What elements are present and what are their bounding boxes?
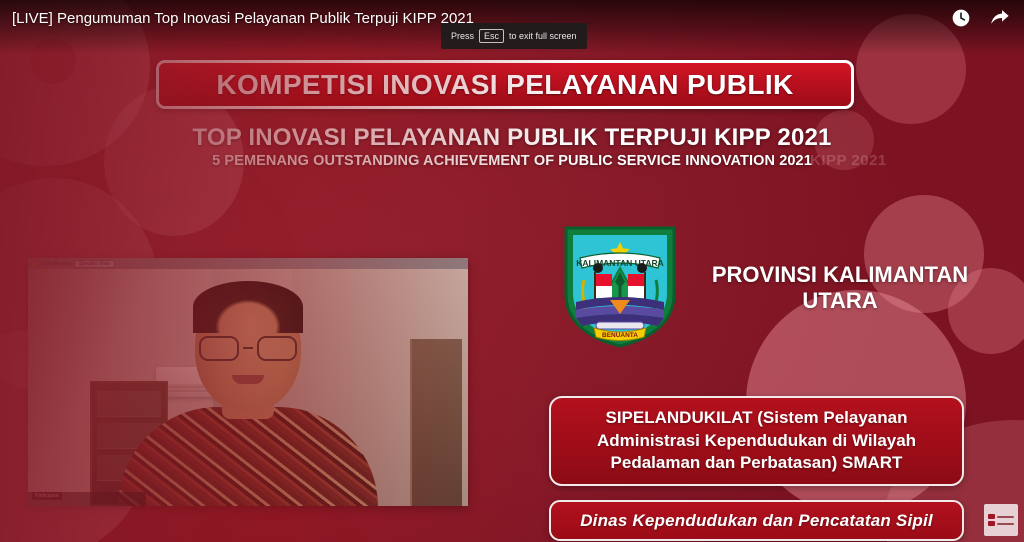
innovation-title-text: SIPELANDUKILAT (Sistem Pelayanan Adminis… <box>565 407 948 475</box>
hair <box>193 281 303 333</box>
share-icon[interactable] <box>989 8 1010 28</box>
participant-video-window: Zoom Meeting Speaker View <box>28 258 468 506</box>
video-player-stage: KOMPETISI INOVASI PELAYANAN PUBLIK TOP I… <box>0 0 1024 542</box>
watermark-line <box>997 523 1014 525</box>
background-blob <box>30 38 76 84</box>
watermark-row <box>988 514 1014 519</box>
competition-title-banner: KOMPETISI INOVASI PELAYANAN PUBLIK <box>156 60 854 109</box>
svg-text:BENUANTA: BENUANTA <box>602 332 638 339</box>
exit-fullscreen-tooltip: Press Esc to exit full screen <box>441 23 587 49</box>
presentation-slide: KOMPETISI INOVASI PELAYANAN PUBLIK TOP I… <box>0 0 1024 542</box>
kalimantan-utara-coat-of-arms-icon: KALIMANTAN UTARA <box>556 222 684 350</box>
tooltip-prefix: Press <box>451 31 474 41</box>
watch-later-icon[interactable] <box>951 8 971 28</box>
watermark-row <box>988 521 1014 526</box>
department-box: Dinas Kependudukan dan Pencatatan Sipil <box>549 500 964 541</box>
province-name: PROVINSI KALIMANTAN UTARA <box>690 262 990 314</box>
head <box>195 283 301 411</box>
glasses-bridge <box>243 347 253 349</box>
tooltip-suffix: to exit full screen <box>509 31 577 41</box>
innovation-title-box: SIPELANDUKILAT (Sistem Pelayanan Adminis… <box>549 396 964 486</box>
app-icon <box>32 262 36 266</box>
esc-key-badge: Esc <box>479 29 504 44</box>
video-window-title: Zoom Meeting <box>39 261 71 267</box>
watermark-line <box>997 516 1014 518</box>
competition-title-text: KOMPETISI INOVASI PELAYANAN PUBLIK <box>216 69 793 101</box>
slide-headline: TOP INOVASI PELAYANAN PUBLIK TERPUJI KIP… <box>0 124 1024 152</box>
watermark-mark <box>988 521 995 526</box>
video-window-titlebar: Zoom Meeting Speaker View <box>28 258 468 269</box>
video-title[interactable]: [LIVE] Pengumuman Top Inovasi Pelayanan … <box>12 10 474 27</box>
department-text: Dinas Kependudukan dan Pencatatan Sipil <box>580 511 933 531</box>
lens-right <box>257 336 297 361</box>
mouth <box>232 375 264 384</box>
room-door <box>410 339 462 506</box>
batik-shirt <box>118 407 378 506</box>
participant-person <box>123 307 373 506</box>
view-mode-chip[interactable]: Speaker View <box>74 260 115 268</box>
player-actions <box>951 8 1010 28</box>
video-feed: Participant <box>28 269 468 506</box>
lens-left <box>199 336 239 361</box>
watermark-mark <box>988 514 995 519</box>
slide-subheadline: 5 PEMENANG OUTSTANDING ACHIEVEMENT OF PU… <box>0 153 1024 169</box>
corner-watermark-logo <box>984 504 1018 536</box>
participant-name-label: Participant <box>32 492 62 500</box>
eyeglasses <box>199 335 297 361</box>
background-blob <box>856 14 966 124</box>
